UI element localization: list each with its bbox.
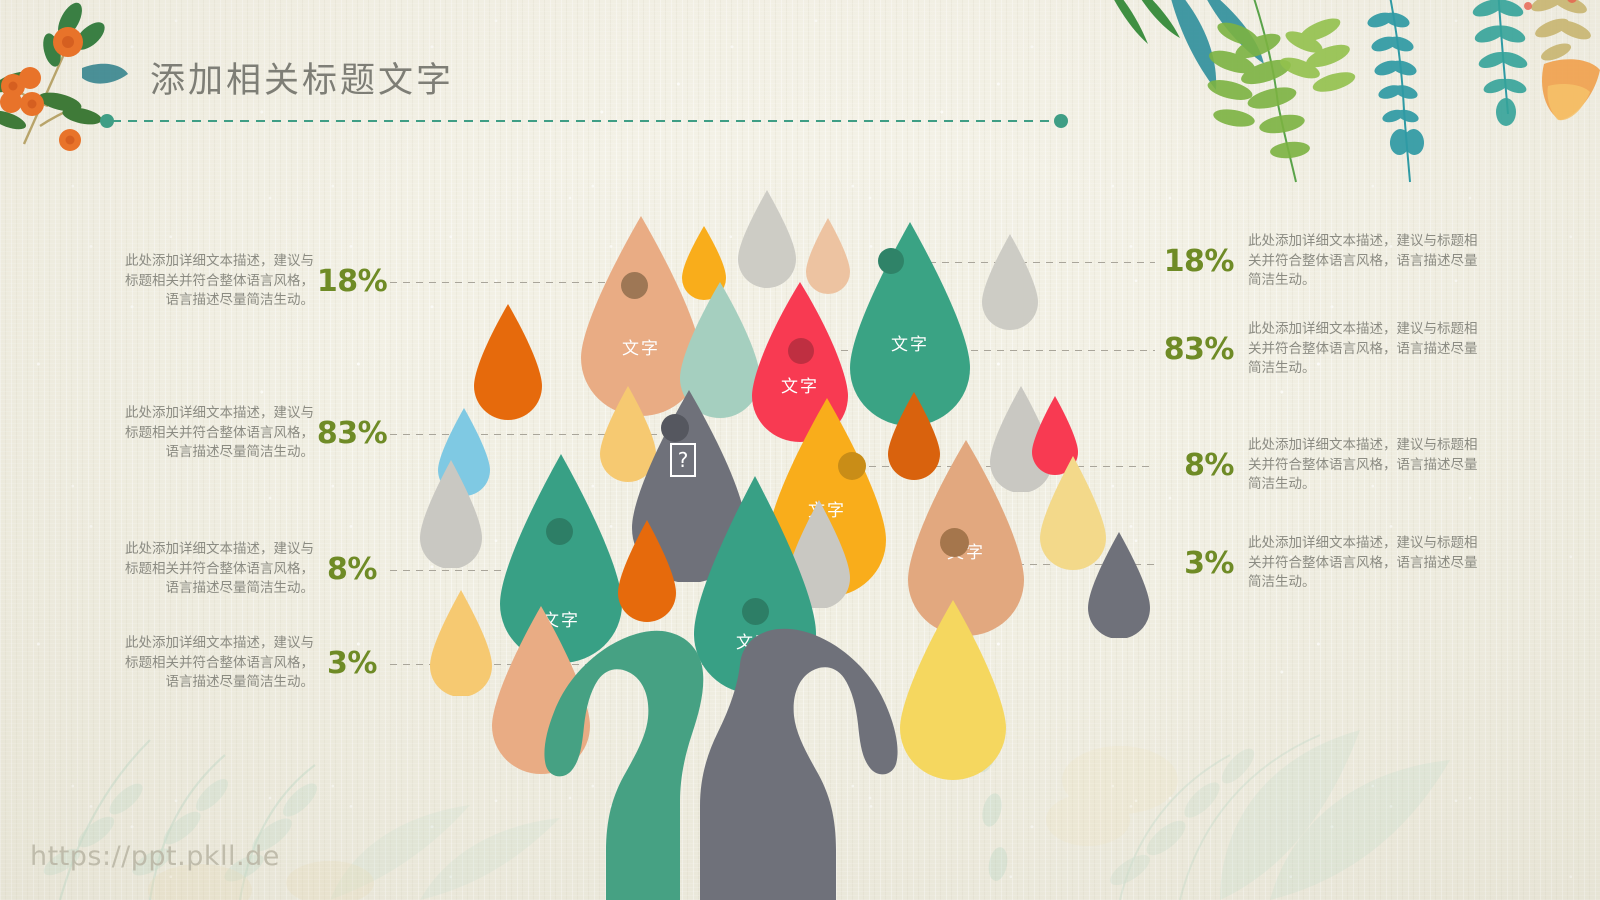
left-hand-shape	[544, 631, 703, 900]
right-row-1-text: 此处添加详细文本描述，建议与标题相关并符合整体语言风格，语言描述尽量简洁生动。	[1248, 232, 1478, 291]
left-row-4: 此处添加详细文本描述，建议与标题相关并符合整体语言风格，语言描述尽量简洁生动。 …	[118, 634, 398, 693]
slide-canvas: 添加相关标题文字 文字	[0, 0, 1600, 900]
right-row-4-text: 此处添加详细文本描述，建议与标题相关并符合整体语言风格，语言描述尽量简洁生动。	[1248, 534, 1478, 593]
hands-tree-trunk	[400, 460, 1160, 900]
leaf-teal-top-node[interactable]	[878, 248, 904, 274]
left-row-3-percent: 8%	[314, 552, 390, 587]
leaf-small-gray-upper-right[interactable]	[982, 234, 1038, 330]
left-row-2-percent: 83%	[314, 416, 390, 451]
right-row-1-percent: 18%	[1158, 244, 1234, 279]
left-row-3-text: 此处添加详细文本描述，建议与标题相关并符合整体语言风格，语言描述尽量简洁生动。	[118, 540, 314, 599]
leaf-peach-top-node[interactable]	[621, 272, 648, 299]
leaf-small-gray-top[interactable]	[738, 190, 796, 288]
leaf-red-node[interactable]	[788, 338, 814, 364]
left-row-4-text: 此处添加详细文本描述，建议与标题相关并符合整体语言风格，语言描述尽量简洁生动。	[118, 634, 314, 693]
site-watermark: https://ppt.pkll.de	[30, 841, 280, 872]
left-row-1-text: 此处添加详细文本描述，建议与标题相关并符合整体语言风格，语言描述尽量简洁生动。	[118, 252, 314, 311]
left-row-1-percent: 18%	[314, 264, 390, 299]
title-divider-dashes	[112, 120, 1062, 122]
left-row-3: 此处添加详细文本描述，建议与标题相关并符合整体语言风格，语言描述尽量简洁生动。 …	[118, 540, 398, 599]
right-hand-shape	[700, 629, 898, 900]
right-row-3-text: 此处添加详细文本描述，建议与标题相关并符合整体语言风格，语言描述尽量简洁生动。	[1248, 436, 1478, 495]
right-row-2-percent: 83%	[1158, 332, 1234, 367]
right-row-3-percent: 8%	[1158, 448, 1234, 483]
left-row-4-percent: 3%	[314, 646, 390, 681]
right-row-2: 83% 此处添加详细文本描述，建议与标题相关并符合整体语言风格，语言描述尽量简洁…	[1158, 320, 1498, 379]
right-row-4: 3% 此处添加详细文本描述，建议与标题相关并符合整体语言风格，语言描述尽量简洁生…	[1158, 534, 1498, 593]
right-row-4-percent: 3%	[1158, 546, 1234, 581]
leaf-red-label: 文字	[752, 372, 848, 397]
leaf-gray-placeholder-node[interactable]	[661, 414, 689, 442]
page-title: 添加相关标题文字	[150, 52, 454, 103]
leaf-orange-left[interactable]	[474, 304, 542, 420]
title-divider-right-dot	[1054, 114, 1068, 128]
page-title-wrap: 添加相关标题文字	[150, 52, 454, 103]
left-row-2-text: 此处添加详细文本描述，建议与标题相关并符合整体语言风格，语言描述尽量简洁生动。	[118, 404, 314, 463]
tree-illustration: 文字 文字 文字	[400, 160, 1160, 900]
leaf-teal-top-label: 文字	[850, 330, 970, 355]
right-row-2-text: 此处添加详细文本描述，建议与标题相关并符合整体语言风格，语言描述尽量简洁生动。	[1248, 320, 1478, 379]
right-row-3: 8% 此处添加详细文本描述，建议与标题相关并符合整体语言风格，语言描述尽量简洁生…	[1158, 436, 1498, 495]
left-row-1: 此处添加详细文本描述，建议与标题相关并符合整体语言风格，语言描述尽量简洁生动。 …	[118, 252, 398, 311]
right-row-1: 18% 此处添加详细文本描述，建议与标题相关并符合整体语言风格，语言描述尽量简洁…	[1158, 232, 1498, 291]
left-row-2: 此处添加详细文本描述，建议与标题相关并符合整体语言风格，语言描述尽量简洁生动。 …	[118, 404, 398, 463]
title-divider	[100, 114, 1066, 128]
